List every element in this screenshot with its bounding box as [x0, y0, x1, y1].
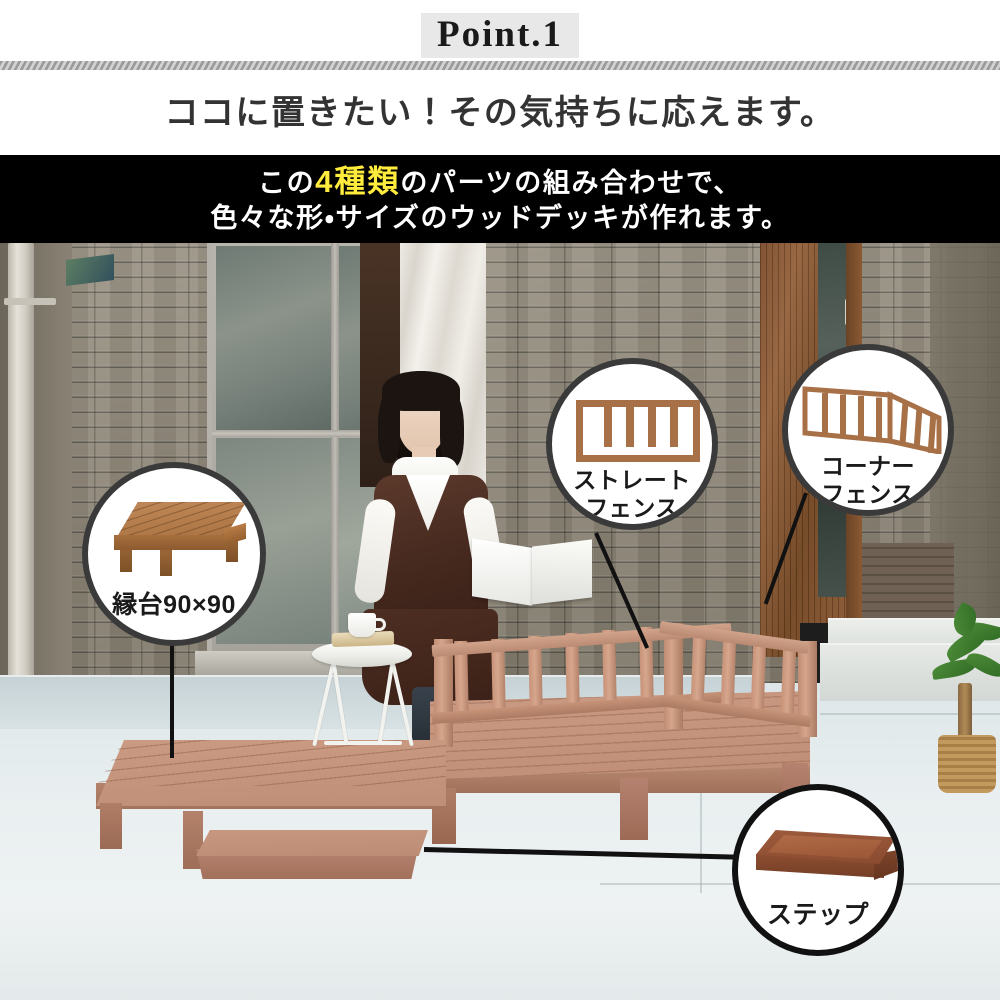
- callout-bench[interactable]: 縁台90×90: [82, 462, 266, 646]
- straight-fence-icon: [576, 400, 700, 462]
- leader-line-bench: [170, 640, 174, 758]
- striped-divider: [0, 60, 1000, 71]
- callout-straight-fence-label-2: フェンス: [552, 496, 712, 520]
- point-title: Point.1: [421, 13, 579, 58]
- coffee-cup: [348, 613, 376, 637]
- wooden-step-icon: [756, 830, 896, 888]
- wooden-bench-icon: [106, 502, 254, 576]
- callout-bench-label: 縁台90×90: [88, 592, 260, 618]
- fence-slat: [648, 405, 656, 447]
- subtitle-band: ココに置きたい！その気持ちに応えます。: [0, 71, 1000, 155]
- callout-straight-fence-label-1: ストレート: [552, 468, 712, 492]
- table-leg: [390, 660, 414, 747]
- fence-baluster: [691, 628, 707, 706]
- corner-fence-icon: [802, 384, 944, 454]
- fence-slat: [604, 405, 612, 447]
- banner-highlight-count: 4種類: [315, 164, 400, 199]
- callout-step-label: ステップ: [738, 902, 898, 928]
- subtitle-text: ココに置きたい！その気持ちに応えます。: [164, 96, 835, 130]
- deck-leg: [620, 778, 648, 840]
- header-top-band: Point.1: [0, 0, 1000, 58]
- banner-text-after: のパーツの組み合わせで、: [400, 168, 742, 198]
- banner-line-2: 色々な形・サイズのウッドデッキが作れます。: [210, 203, 789, 234]
- callout-straight-fence[interactable]: ストレート フェンス: [546, 358, 718, 530]
- banner-line-1: この4種類のパーツの組み合わせで、: [258, 164, 742, 200]
- callout-corner-fence-label-2: フェンス: [788, 482, 948, 506]
- deck-leg: [100, 803, 122, 849]
- callout-corner-fence-label-1: コーナー: [788, 454, 948, 478]
- step-top-surface: [196, 830, 428, 856]
- bench-apron: [114, 535, 228, 550]
- infographic-page: Point.1 ココに置きたい！その気持ちに応えます。 この4種類のパーツの組み…: [0, 0, 1000, 1000]
- fence-frame: [576, 400, 700, 462]
- fence-slat: [670, 405, 678, 447]
- banner-text-before: この: [258, 168, 315, 198]
- wire-side-table: [304, 641, 420, 751]
- table-leg: [331, 661, 348, 745]
- callout-step[interactable]: ステップ: [732, 784, 904, 956]
- fence-slat: [626, 405, 634, 447]
- callout-corner-fence[interactable]: コーナー フェンス: [782, 344, 954, 516]
- bench-leg: [160, 546, 172, 576]
- corner-fence-svg: [802, 384, 944, 454]
- table-rail: [324, 741, 402, 745]
- table-leg: [377, 661, 394, 745]
- black-banner: この4種類のパーツの組み合わせで、 色々な形・サイズのウッドデッキが作れます。: [0, 155, 1000, 243]
